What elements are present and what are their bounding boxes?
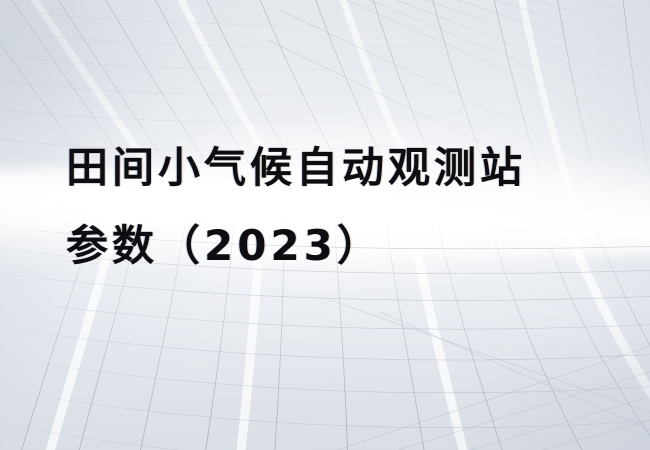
title-slide: 田间小气候自动观测站 参数（2023） [0,0,650,450]
slide-title: 田间小气候自动观测站 参数（2023） [66,129,586,285]
title-line-2: 参数（2023） [66,207,586,285]
title-line-1: 田间小气候自动观测站 [66,129,586,207]
